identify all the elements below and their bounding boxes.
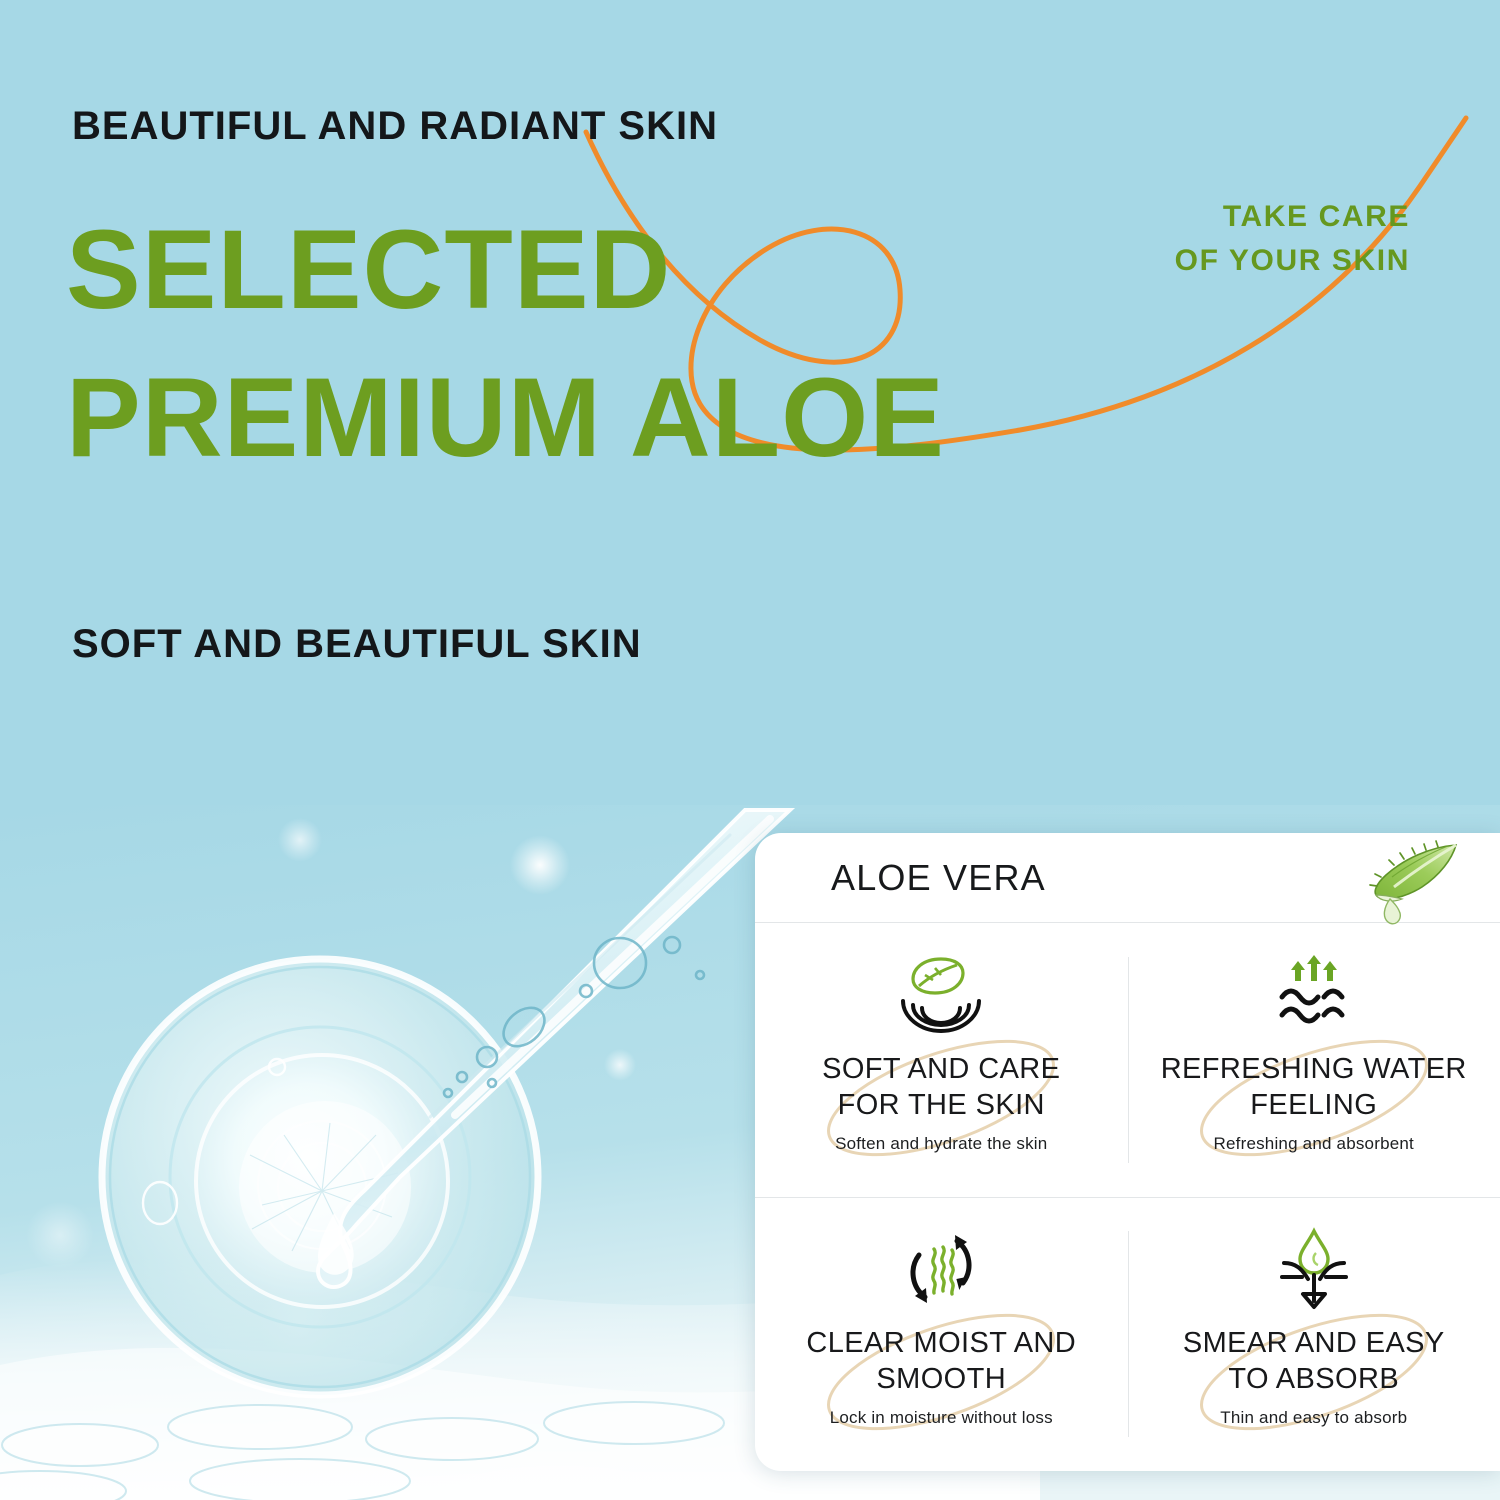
feature-cell-soft-and-care: SOFT AND CARE FOR THE SKIN Soften and hy… [755,923,1128,1197]
hero-headline: SELECTED PREMIUM ALOE [66,196,945,492]
feature-title: REFRESHING WATER FEELING [1161,1051,1467,1123]
droplet-absorb-icon [1266,1227,1362,1311]
hero-section: BEAUTIFUL AND RADIANT SKIN SELECTED PREM… [0,0,1500,810]
aloe-leaf-icon [1360,837,1464,927]
feature-text-block: CLEAR MOIST AND SMOOTH Lock in moisture … [755,1325,1128,1428]
hero-take-care-label: TAKE CARE OF YOUR SKIN [1175,195,1410,283]
feature-title: SOFT AND CARE FOR THE SKIN [822,1051,1060,1123]
hero-eyebrow: BEAUTIFUL AND RADIANT SKIN [72,104,718,149]
water-waves-arrows-icon [1266,953,1362,1037]
moisture-cycle-icon [893,1227,989,1311]
feature-cell-smear-absorb: SMEAR AND EASY TO ABSORB Thin and easy t… [1128,1197,1500,1471]
feature-subtitle: Thin and easy to absorb [1220,1408,1407,1428]
hero-subline: SOFT AND BEAUTIFUL SKIN [72,622,642,667]
feature-subtitle: Soften and hydrate the skin [835,1134,1047,1154]
feature-subtitle: Refreshing and absorbent [1214,1134,1414,1154]
feature-title: CLEAR MOIST AND SMOOTH [806,1325,1076,1397]
leaf-on-ripple-icon [893,953,989,1037]
aloe-vera-info-card: ALOE VERA [755,833,1500,1471]
feature-grid: SOFT AND CARE FOR THE SKIN Soften and hy… [755,923,1500,1471]
feature-text-block: SMEAR AND EASY TO ABSORB Thin and easy t… [1128,1325,1500,1428]
card-title: ALOE VERA [831,857,1046,899]
card-header: ALOE VERA [755,833,1500,923]
feature-title: SMEAR AND EASY TO ABSORB [1183,1325,1445,1397]
feature-subtitle: Lock in moisture without loss [830,1408,1053,1428]
feature-cell-clear-moist: CLEAR MOIST AND SMOOTH Lock in moisture … [755,1197,1128,1471]
feature-text-block: REFRESHING WATER FEELING Refreshing and … [1128,1051,1500,1154]
feature-text-block: SOFT AND CARE FOR THE SKIN Soften and hy… [755,1051,1128,1154]
feature-cell-refreshing-water: REFRESHING WATER FEELING Refreshing and … [1128,923,1500,1197]
